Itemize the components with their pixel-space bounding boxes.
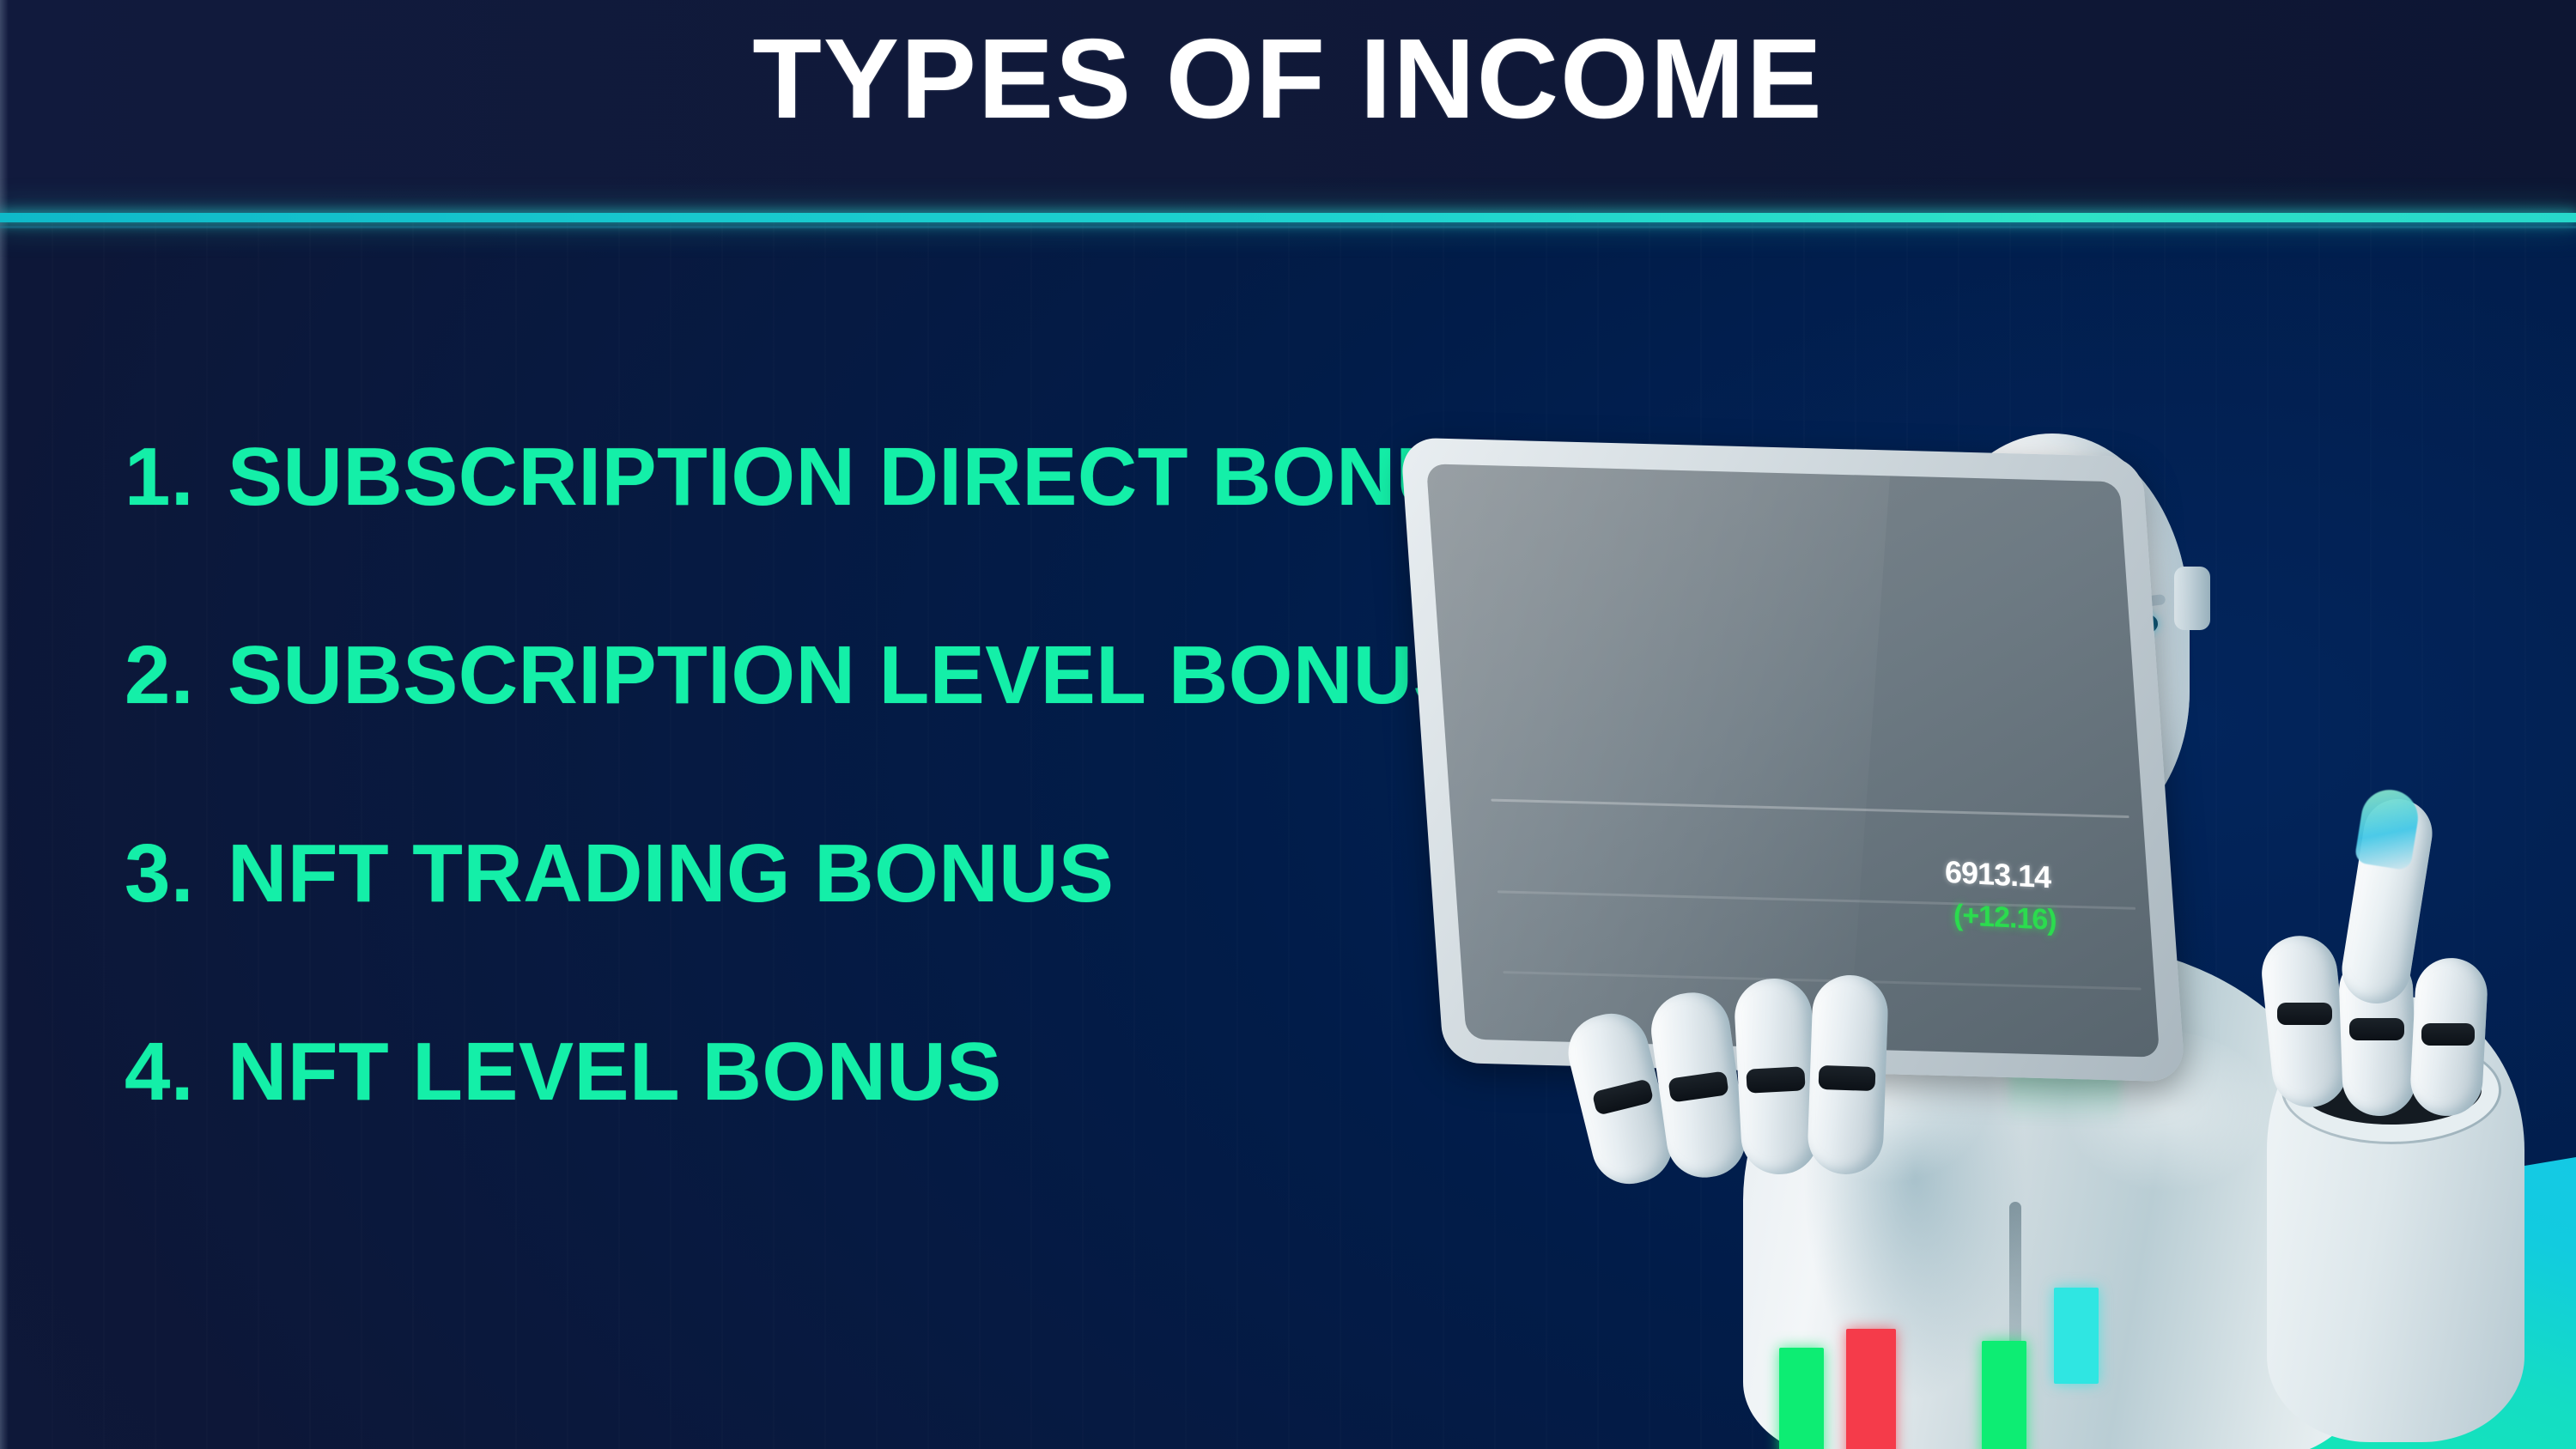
header-divider-shadow	[0, 226, 2576, 228]
list-item-number: 2.	[125, 634, 228, 717]
list-item: 3. NFT TRADING BONUS	[125, 833, 1636, 915]
robot-knuckle	[2277, 1003, 2332, 1025]
robot-knuckle	[2421, 1023, 2475, 1046]
list-item-label: NFT TRADING BONUS	[228, 833, 1114, 915]
robot-knuckle	[1819, 1065, 1876, 1091]
robot-knuckle	[1746, 1066, 1805, 1094]
list-item: 4. NFT LEVEL BONUS	[125, 1031, 1636, 1113]
list-item-number: 1.	[125, 436, 228, 518]
tablet-price-change: (+12.16)	[1953, 899, 2057, 937]
header-divider	[0, 213, 2576, 222]
list-item-number: 4.	[125, 1031, 228, 1113]
list-item-number: 3.	[125, 833, 228, 915]
tablet-price-value: 6913.14	[1945, 854, 2050, 895]
slide: TYPES OF INCOME 1. SUBSCRIPTION DIRECT B…	[0, 0, 2576, 1449]
robot-ear	[2174, 567, 2210, 630]
page-title: TYPES OF INCOME	[0, 22, 2576, 136]
robot-illustration: 6913.14 (+12.16)	[1460, 343, 2576, 1449]
robot-right-hand	[2258, 790, 2533, 1116]
list-item-label: NFT LEVEL BONUS	[228, 1031, 1002, 1113]
list-item-label: SUBSCRIPTION DIRECT BONUS	[228, 436, 1511, 518]
list-item: 2. SUBSCRIPTION LEVEL BONUS	[125, 634, 1636, 717]
slide-header: TYPES OF INCOME	[0, 0, 2576, 219]
robot-left-hand	[1580, 893, 1941, 1176]
robot-fingertip-glow	[2354, 785, 2421, 870]
chart-candle	[1982, 1341, 2026, 1449]
chart-candle	[1846, 1329, 1896, 1449]
list-item-label: SUBSCRIPTION LEVEL BONUS	[228, 634, 1468, 717]
chart-candle	[1779, 1348, 1824, 1449]
robot-knuckle	[2349, 1018, 2404, 1040]
chart-candle	[2054, 1288, 2099, 1384]
